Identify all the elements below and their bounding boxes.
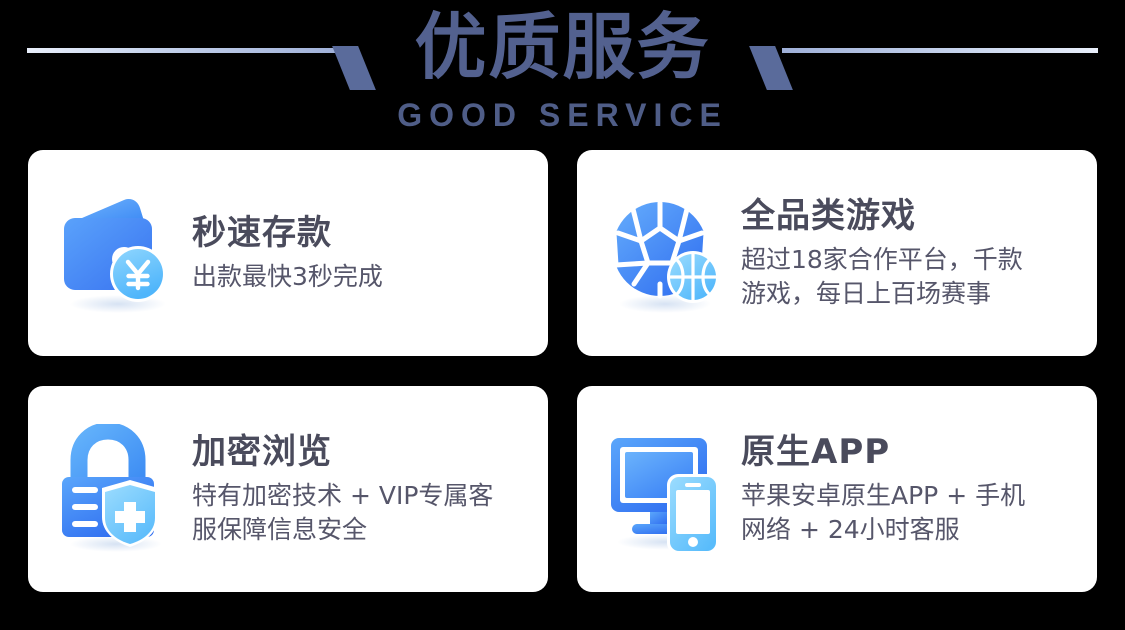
feature-card-desc-line: 特有加密技术 + VIP专属客 — [192, 479, 530, 513]
feature-card-text: 秒速存款 出款最快3秒完成 — [192, 212, 530, 294]
wallet-yen-icon — [58, 188, 178, 318]
feature-card-native-app[interactable]: 原生APP 苹果安卓原生APP + 手机 网络 + 24小时客服 — [577, 386, 1097, 592]
feature-card-title: 原生APP — [741, 431, 1079, 473]
feature-card-encryption[interactable]: 加密浏览 特有加密技术 + VIP专属客 服保障信息安全 — [28, 386, 548, 592]
feature-card-desc: 出款最快3秒完成 — [192, 260, 530, 294]
feature-card-games[interactable]: 全品类游戏 超过18家合作平台，千款 游戏，每日上百场赛事 — [577, 150, 1097, 356]
page-header: 优质服务 GOOD SERVICE — [0, 0, 1125, 146]
feature-card-desc-line: 出款最快3秒完成 — [192, 260, 530, 294]
feature-card-desc: 特有加密技术 + VIP专属客 服保障信息安全 — [192, 479, 530, 547]
lock-shield-icon — [58, 424, 178, 554]
feature-card-title: 全品类游戏 — [741, 195, 1079, 237]
feature-card-desc-line: 超过18家合作平台，千款 — [741, 243, 1079, 277]
page-subtitle: GOOD SERVICE — [0, 97, 1125, 133]
feature-card-grid: 秒速存款 出款最快3秒完成 — [28, 150, 1097, 592]
feature-card-desc: 苹果安卓原生APP + 手机 网络 + 24小时客服 — [741, 479, 1079, 547]
feature-card-deposit[interactable]: 秒速存款 出款最快3秒完成 — [28, 150, 548, 356]
feature-card-title: 秒速存款 — [192, 212, 530, 254]
soccer-basketball-icon — [607, 188, 727, 318]
feature-card-desc-line: 游戏，每日上百场赛事 — [741, 277, 1079, 311]
page-title: 优质服务 — [0, 6, 1125, 88]
feature-card-text: 原生APP 苹果安卓原生APP + 手机 网络 + 24小时客服 — [741, 431, 1079, 547]
feature-card-desc: 超过18家合作平台，千款 游戏，每日上百场赛事 — [741, 243, 1079, 311]
monitor-phone-icon — [607, 424, 727, 554]
feature-card-text: 全品类游戏 超过18家合作平台，千款 游戏，每日上百场赛事 — [741, 195, 1079, 311]
feature-card-desc-line: 网络 + 24小时客服 — [741, 513, 1079, 547]
feature-card-title: 加密浏览 — [192, 431, 530, 473]
feature-card-desc-line: 服保障信息安全 — [192, 513, 530, 547]
feature-card-desc-line: 苹果安卓原生APP + 手机 — [741, 479, 1079, 513]
feature-card-text: 加密浏览 特有加密技术 + VIP专属客 服保障信息安全 — [192, 431, 530, 547]
